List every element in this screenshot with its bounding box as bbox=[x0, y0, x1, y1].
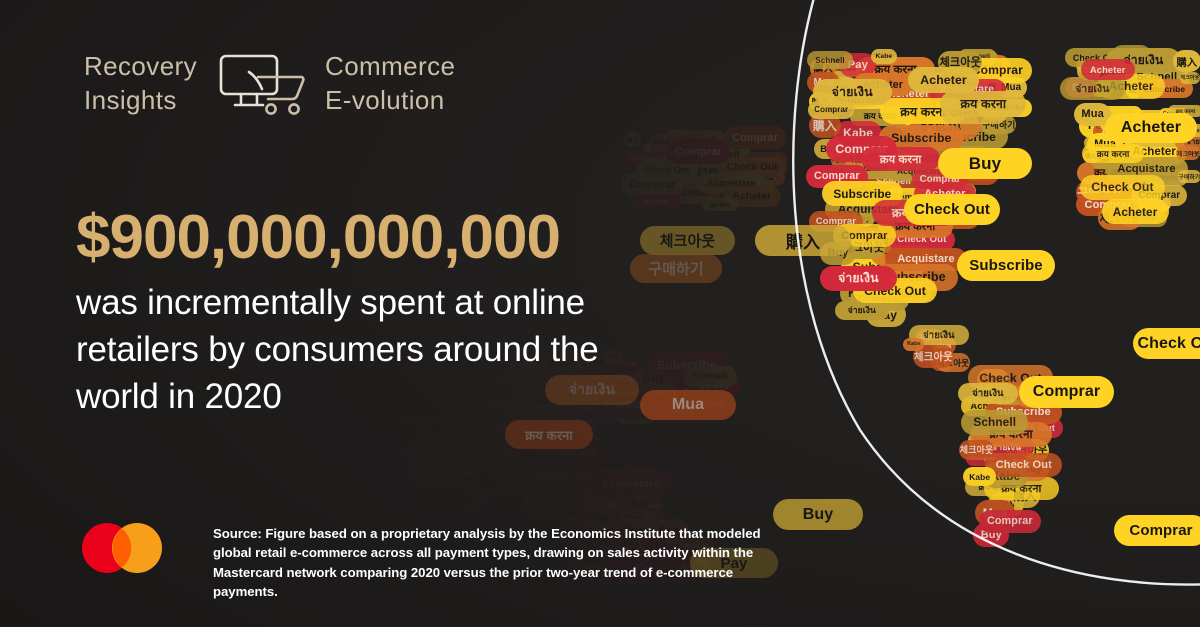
headline-line-2: retailers by consumers around the bbox=[76, 326, 776, 373]
headline-amount: $900,000,000,000 bbox=[76, 203, 776, 273]
featured-word-pill: Comprar bbox=[1019, 376, 1114, 408]
monitor-shopping-cart-icon bbox=[215, 48, 307, 118]
brand-right-line2: E-volution bbox=[325, 83, 455, 117]
brand-left-line2: Insights bbox=[84, 83, 197, 117]
mastercard-logo bbox=[79, 521, 165, 575]
featured-word-pill: Comprar bbox=[1114, 515, 1200, 546]
brand-left-text: Recovery Insights bbox=[84, 49, 197, 117]
brand-right-text: Commerce E-volution bbox=[325, 49, 455, 117]
brand-lockup: Recovery Insights Commerce E-volution bbox=[84, 48, 455, 118]
headline-line-1: was incrementally spent at online bbox=[76, 279, 776, 326]
featured-word-pill: Buy bbox=[938, 148, 1032, 179]
headline-block: $900,000,000,000 was incrementally spent… bbox=[76, 203, 776, 420]
featured-word-pill: Subscribe bbox=[957, 250, 1055, 281]
featured-word-pill: Acheter bbox=[1105, 113, 1197, 143]
infographic-canvas: Schnell購入MuaSubscribeComprarAcquistareKa… bbox=[0, 0, 1200, 627]
brand-left-line1: Recovery bbox=[84, 49, 197, 83]
source-note: Source: Figure based on a proprietary an… bbox=[213, 524, 798, 602]
featured-word-pill: Check Out bbox=[1133, 328, 1200, 359]
headline-line-3: world in 2020 bbox=[76, 373, 776, 420]
featured-word-pill: Check Out bbox=[904, 194, 1000, 225]
featured-word-pill: क्रय करना bbox=[505, 420, 593, 449]
brand-right-line1: Commerce bbox=[325, 49, 455, 83]
